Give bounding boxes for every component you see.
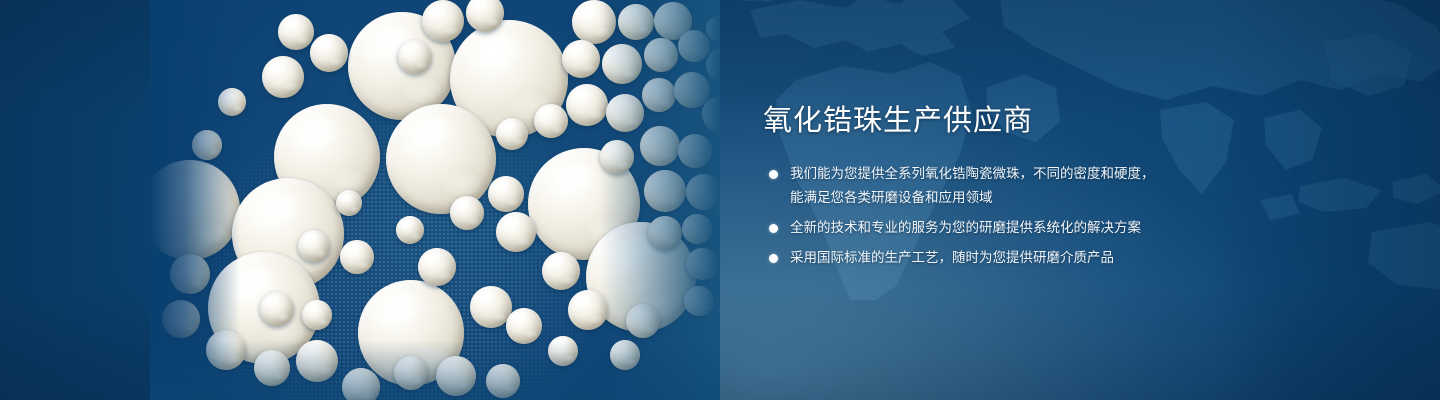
bead: [488, 176, 524, 212]
page-title: 氧化锆珠生产供应商: [763, 104, 1223, 138]
bead: [336, 190, 362, 216]
bead: [562, 40, 600, 78]
bead: [422, 0, 464, 42]
list-item-line: 采用国际标准的生产工艺，随时为您提供研磨介质产品: [790, 246, 1223, 270]
bullet-dot-icon: [769, 170, 778, 179]
bead: [418, 248, 456, 286]
list-item-line: 全新的技术和专业的服务为您的研磨提供系统化的解决方案: [790, 216, 1223, 240]
list-item: 我们能为您提供全系列氧化锆陶瓷微珠，不同的密度和硬度， 能满足您各类研磨设备和应…: [763, 162, 1223, 210]
bead: [496, 212, 536, 252]
zirconia-beads-photo: [150, 0, 720, 400]
bead: [340, 240, 374, 274]
bead: [386, 104, 496, 214]
bead: [310, 34, 348, 72]
banner-copy: 氧化锆珠生产供应商 我们能为您提供全系列氧化锆陶瓷微珠，不同的密度和硬度， 能满…: [763, 104, 1223, 270]
bullet-dot-icon: [769, 254, 778, 263]
list-item-line: 能满足您各类研磨设备和应用领域: [790, 186, 1223, 210]
list-item: 采用国际标准的生产工艺，随时为您提供研磨介质产品: [763, 246, 1223, 270]
bead: [496, 118, 528, 150]
bead: [396, 216, 424, 244]
bead: [302, 300, 332, 330]
hero-banner: 氧化锆珠生产供应商 我们能为您提供全系列氧化锆陶瓷微珠，不同的密度和硬度， 能满…: [0, 0, 1440, 400]
list-item-line: 我们能为您提供全系列氧化锆陶瓷微珠，不同的密度和硬度，: [790, 162, 1223, 186]
feature-list: 我们能为您提供全系列氧化锆陶瓷微珠，不同的密度和硬度， 能满足您各类研磨设备和应…: [763, 162, 1223, 270]
list-item: 全新的技术和专业的服务为您的研磨提供系统化的解决方案: [763, 216, 1223, 240]
photo-edge-fade-bottom: [150, 340, 720, 400]
bead: [542, 252, 580, 290]
bead: [278, 14, 314, 50]
bead: [260, 292, 294, 326]
bead: [450, 196, 484, 230]
bead: [298, 230, 330, 262]
bead: [262, 56, 304, 98]
bullet-dot-icon: [769, 224, 778, 233]
bead: [534, 104, 568, 138]
bead: [506, 308, 542, 344]
bead: [398, 40, 432, 74]
